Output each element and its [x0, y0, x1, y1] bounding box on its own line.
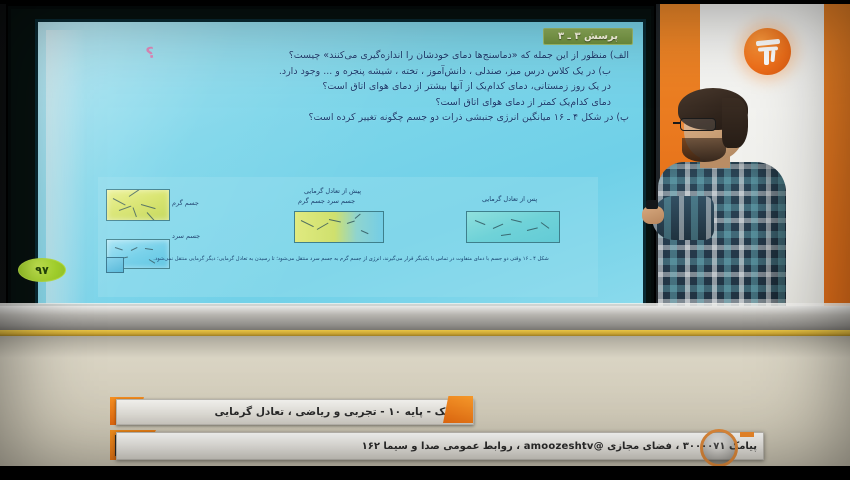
- particle-field: [467, 212, 559, 242]
- figure-hot-body-block: [106, 189, 170, 221]
- figure-label-contact-bodies: جسم سرد جسم گرم: [298, 197, 355, 205]
- figure-label-after-equilibrium: پس از تعادل گرمایی: [482, 195, 537, 203]
- slide-line: دمای کدام‌یک کمتر از دمای هوای اتاق است؟: [64, 95, 629, 111]
- presenter-glasses-icon: [680, 118, 716, 131]
- projection-screen-frame: پرسش ۳ ـ ۳ ؟ الف) منظور از این جمله که «…: [8, 6, 654, 312]
- ticker-text: پیامک ۳۰۰۰۰۷۱ ، فضای مجازی @amoozeshtv ،…: [362, 441, 757, 452]
- letterbox-top: [0, 0, 850, 4]
- figure-thermal-equilibrium: جسم گرم جسم سرد: [98, 177, 598, 297]
- page-number-badge: ۹۷: [18, 258, 66, 282]
- studio-ledge: [0, 306, 850, 332]
- channel-logo-icon: [744, 28, 791, 75]
- studio-floor-shadow: [0, 336, 850, 358]
- presenter-remote-icon: [646, 200, 658, 209]
- figure-contact-blocks: [294, 211, 384, 243]
- studio-panel-orange-right: [824, 0, 850, 330]
- slide-line: در یک روز زمستانی، دمای کدام‌یک از آنها …: [64, 79, 629, 95]
- figure-label-before-equilibrium: پیش از تعادل گرمایی: [304, 187, 361, 195]
- figure-label-hot: جسم گرم: [172, 199, 199, 207]
- logo-glyph: [755, 38, 781, 66]
- presenter-hair-side: [722, 98, 748, 148]
- ticker-ring-decor-icon: [700, 429, 738, 467]
- program-title-banner: فیزیک - پایه ۱۰ - تجربی و ریاضی ، تعادل …: [116, 399, 474, 425]
- question-badge: پرسش ۳ ـ ۳: [543, 28, 633, 45]
- figure-caption: شکل ۴ ـ ۱۶ وقتی دو جسم با دمای متفاوت در…: [136, 255, 566, 263]
- letterbox-bottom: [0, 466, 850, 480]
- lesson-slide: پرسش ۳ ـ ۳ ؟ الف) منظور از این جمله که «…: [38, 22, 643, 304]
- figure-label-cold: جسم سرد: [172, 232, 200, 240]
- figure-equilibrium-block: [466, 211, 560, 243]
- ticker-end-cap: [740, 432, 754, 437]
- info-ticker-bar: پیامک ۳۰۰۰۰۷۱ ، فضای مجازی @amoozeshtv ،…: [116, 432, 764, 460]
- presenter-beard: [682, 138, 726, 162]
- tv-broadcast-frame: پرسش ۳ ـ ۳ ؟ الف) منظور از این جمله که «…: [0, 0, 850, 480]
- slide-line: الف) منظور از این جمله که «دماسنج‌ها دما…: [64, 48, 629, 64]
- projection-screen: پرسش ۳ ـ ۳ ؟ الف) منظور از این جمله که «…: [35, 19, 646, 307]
- slide-line: ب) در یک کلاس درس میز، صندلی ، دانش‌آموز…: [64, 64, 629, 80]
- figure-caption-chip: [106, 257, 124, 273]
- particle-field: [295, 212, 383, 242]
- program-title-text: فیزیک - پایه ۱۰ - تجربی و ریاضی ، تعادل …: [215, 406, 473, 418]
- slide-text-block: الف) منظور از این جمله که «دماسنج‌ها دما…: [64, 48, 629, 126]
- particle-field: [107, 190, 169, 220]
- slide-line: پ) در شکل ۴ ـ ۱۶ میانگین انرژی جنبشی ذرا…: [64, 110, 629, 126]
